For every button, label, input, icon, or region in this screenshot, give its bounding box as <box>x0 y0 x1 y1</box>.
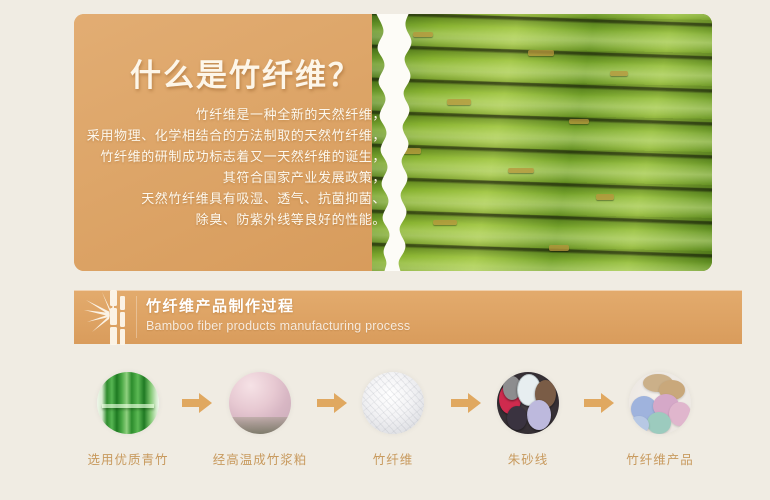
process-step: 竹纤维 <box>339 372 447 468</box>
banner-title-en: Bamboo fiber products manufacturing proc… <box>146 319 410 333</box>
process-step-label: 经高温成竹浆粕 <box>206 449 314 468</box>
banner-divider <box>136 296 137 338</box>
process-step-label: 竹纤维产品 <box>606 449 714 468</box>
bamboo-fiber-products-thumb <box>629 372 691 434</box>
bamboo-stalks-photo <box>372 14 712 271</box>
process-step: 竹纤维产品 <box>606 372 714 468</box>
banner-titles: 竹纤维产品制作过程 Bamboo fiber products manufact… <box>146 295 410 333</box>
hero-body-line: 天然竹纤维具有吸湿、透气、抗菌抑菌、 <box>74 188 386 209</box>
hero-body-line: 采用物理、化学相结合的方法制取的天然竹纤维， <box>74 125 386 146</box>
hero-body-line: 除臭、防紫外线等良好的性能。 <box>74 209 386 230</box>
process-step-label: 竹纤维 <box>339 449 447 468</box>
banner-title-cn: 竹纤维产品制作过程 <box>146 295 410 316</box>
section-banner: 竹纤维产品制作过程 Bamboo fiber products manufact… <box>74 290 742 344</box>
process-step-label: 选用优质青竹 <box>74 449 182 468</box>
process-step-label: 朱砂线 <box>474 449 582 468</box>
hero-body-line: 竹纤维是一种全新的天然纤维， <box>74 104 386 125</box>
hero-body-text: 竹纤维是一种全新的天然纤维， 采用物理、化学相结合的方法制取的天然竹纤维， 竹纤… <box>74 104 396 230</box>
bamboo-fiber-thumb <box>362 372 424 434</box>
hero-body-line: 竹纤维的研制成功标志着又一天然纤维的诞生， <box>74 146 386 167</box>
process-step: 选用优质青竹 <box>74 372 182 468</box>
page-title: 什么是竹纤维？ <box>130 50 361 95</box>
bamboo-pulp-thumb <box>229 372 291 434</box>
hero-content: 什么是竹纤维？ 竹纤维是一种全新的天然纤维， 采用物理、化学相结合的方法制取的天… <box>74 14 394 271</box>
process-flow: 选用优质青竹 经高温成竹浆粕 竹纤维 朱砂线 <box>74 372 714 482</box>
bamboo-stalk-icon <box>80 286 136 348</box>
yarn-spools-thumb <box>497 372 559 434</box>
process-step: 朱砂线 <box>474 372 582 468</box>
process-step: 经高温成竹浆粕 <box>206 372 314 468</box>
green-bamboo-thumb <box>97 372 159 434</box>
hero-panel: 什么是竹纤维？ 竹纤维是一种全新的天然纤维， 采用物理、化学相结合的方法制取的天… <box>74 14 712 271</box>
hero-body-line: 其符合国家产业发展政策， <box>74 167 386 188</box>
